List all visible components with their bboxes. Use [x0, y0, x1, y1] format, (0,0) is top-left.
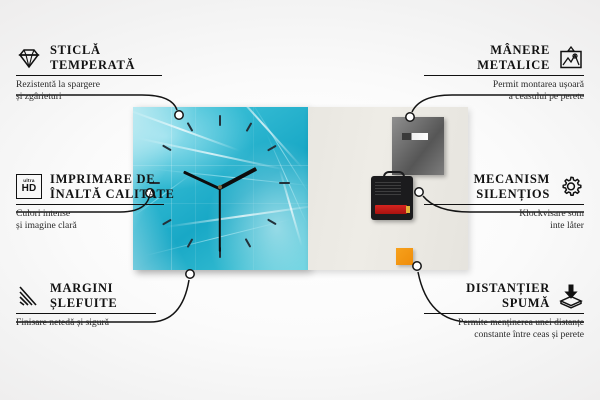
callout-rule [424, 204, 584, 205]
callout-subtitle: Rezistentă la spargere și zgârieturi [16, 79, 176, 103]
callout-metal-handles[interactable]: MÂNERE METALICE Permit montarea ușoară a… [424, 43, 584, 103]
infographic-canvas: STICLĂ TEMPERATĂ Rezistentă la spargere … [0, 0, 600, 400]
callout-rule [424, 313, 584, 314]
callout-rule [424, 75, 584, 76]
callout-title: IMPRIMARE DE ÎNALTĂ CALITATE [50, 172, 175, 201]
callout-title: STICLĂ TEMPERATĂ [50, 43, 135, 72]
callout-subtitle: Culori intense și imagine clară [16, 208, 191, 232]
callout-high-quality-print[interactable]: ultra HD IMPRIMARE DE ÎNALTĂ CALITATE Cu… [16, 172, 191, 232]
callout-title: MECANISM SILENȚIOS [474, 172, 550, 201]
callout-subtitle: Finisare netedă și sigură [16, 317, 191, 329]
callout-subtitle: Permite menținerea unei distanțe constan… [424, 317, 584, 341]
callout-subtitle: Permit montarea ușoară a ceasului pe per… [424, 79, 584, 103]
callout-rule [16, 204, 164, 205]
callout-subtitle: Klockvisare som inte låter [424, 208, 584, 232]
polished-edges-icon [16, 283, 42, 309]
callout-title: DISTANȚIER SPUMĂ [466, 281, 550, 310]
callout-title: MARGINI ȘLEFUITE [50, 281, 117, 310]
callout-polished-edges[interactable]: MARGINI ȘLEFUITE Finisare netedă și sigu… [16, 281, 191, 329]
gear-icon [558, 174, 584, 200]
callout-foam-spacer[interactable]: DISTANȚIER SPUMĂ Permite menținerea unei… [424, 281, 584, 341]
callout-tempered-glass[interactable]: STICLĂ TEMPERATĂ Rezistentă la spargere … [16, 43, 176, 103]
picture-hanger-icon [558, 45, 584, 71]
callout-rule [16, 313, 156, 314]
callout-title: MÂNERE METALICE [477, 43, 550, 72]
diamond-icon [16, 45, 42, 71]
callout-silent-mechanism[interactable]: MECANISM SILENȚIOS Klockvisare som inte … [424, 172, 584, 232]
callout-rule [16, 75, 162, 76]
ultra-hd-icon: ultra HD [16, 174, 42, 200]
press-down-icon [558, 283, 584, 309]
